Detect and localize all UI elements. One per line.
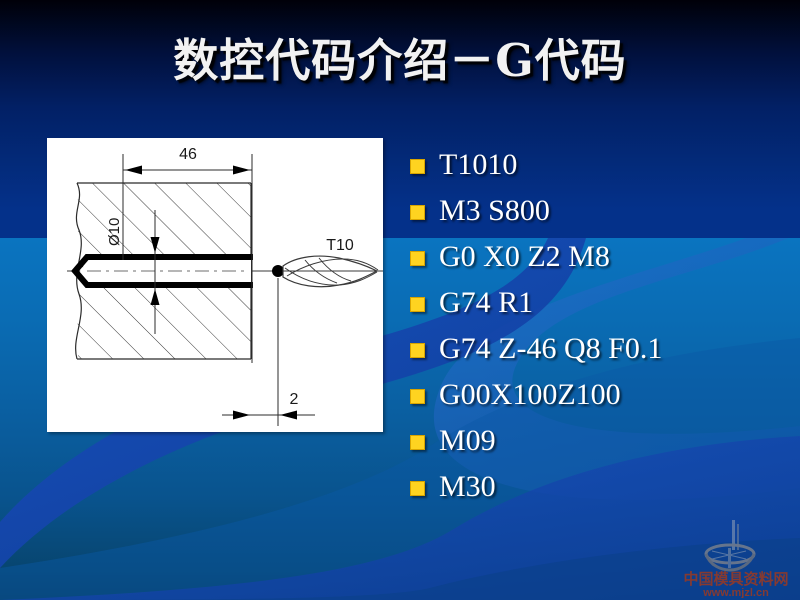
square-bullet-icon [410,481,425,496]
list-item-label: G74 Z-46 Q8 F0.1 [439,332,662,366]
slide-canvas: 中国模具资料网 www.mjzl.cn 数控代码介绍－G代码 [0,0,800,600]
square-bullet-icon [410,343,425,358]
tool-label: T10 [326,237,354,254]
watermark-site-url: www.mjzl.cn [702,587,769,598]
list-item-label: G74 R1 [439,286,533,320]
square-bullet-icon [410,205,425,220]
square-bullet-icon [410,389,425,404]
list-item-label: M30 [439,470,496,504]
length-dimension-label: 46 [179,146,197,163]
drilled-hole [75,257,253,285]
square-bullet-icon [410,251,425,266]
slide-title: 数控代码介绍－G代码 [0,30,800,92]
list-item-label: T1010 [439,148,517,182]
gcode-bullet-list: T1010 M3 S800 G0 X0 Z2 M8 G74 R1 G74 Z-4… [410,142,792,510]
square-bullet-icon [410,159,425,174]
list-item[interactable]: G0 X0 Z2 M8 [410,234,792,280]
square-bullet-icon [410,435,425,450]
twist-drill-tool: T10 [272,237,383,287]
list-item[interactable]: G74 Z-46 Q8 F0.1 [410,326,792,372]
list-item[interactable]: T1010 [410,142,792,188]
watermark-site-name: 中国模具资料网 [683,570,788,588]
technical-drawing-card: Ø10 46 2 [47,138,383,432]
list-item[interactable]: G74 R1 [410,280,792,326]
list-item[interactable]: M30 [410,464,792,510]
diameter-dimension-label: Ø10 [106,218,123,246]
list-item[interactable]: G00X100Z100 [410,372,792,418]
list-item-label: M09 [439,424,496,458]
watermark-logo: 中国模具资料网 www.mjzl.cn [678,518,794,598]
list-item[interactable]: M09 [410,418,792,464]
list-item-label: M3 S800 [439,194,550,228]
list-item[interactable]: M3 S800 [410,188,792,234]
clearance-dimension-label: 2 [290,391,299,408]
list-item-label: G00X100Z100 [439,378,621,412]
drilling-cross-section-diagram: Ø10 46 2 [47,138,383,432]
square-bullet-icon [410,297,425,312]
list-item-label: G0 X0 Z2 M8 [439,240,610,274]
